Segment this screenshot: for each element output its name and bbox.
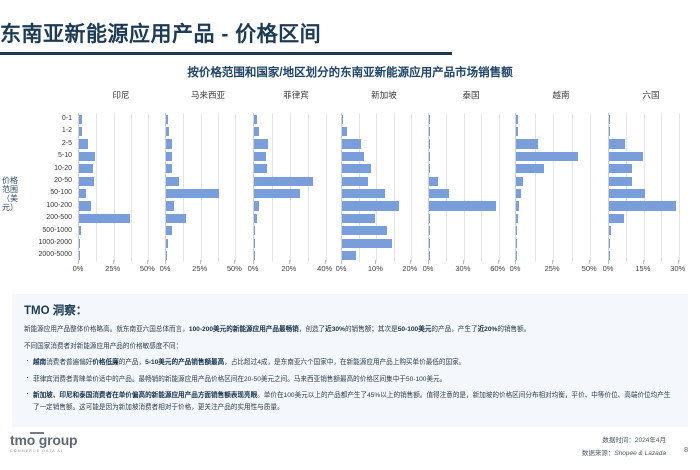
panel-plot-area [341, 113, 427, 262]
chart-panel-马来西亚: 马来西亚0%25%50% [165, 88, 251, 288]
bar-row [609, 113, 694, 125]
bar [342, 239, 392, 248]
bar-row [342, 125, 427, 137]
bar [609, 139, 625, 148]
bar-row [254, 187, 339, 199]
bar [609, 177, 632, 186]
x-tick-label: 30% [455, 264, 470, 273]
bar-row [254, 225, 339, 237]
bar [342, 226, 387, 235]
data-date-label: 数据时间： [602, 437, 635, 444]
bar [166, 177, 179, 186]
x-tick-label: 25% [192, 264, 207, 273]
category-label: 20-50 [20, 175, 75, 187]
bar-row [79, 187, 164, 199]
bar [254, 127, 259, 136]
bar-row [254, 150, 339, 162]
y-axis-title: 价格范围（美元） [2, 176, 18, 212]
data-source-label: 数据来源： [582, 450, 615, 457]
bar [429, 177, 438, 186]
chart-title: 按价格范围和国家/地区划分的东南亚新能源应用产品市场销售额 [0, 64, 700, 80]
bar-row [609, 237, 694, 249]
bar [79, 139, 88, 148]
bar-row [342, 212, 427, 224]
bar-row [166, 237, 251, 249]
panel-plot-area [78, 113, 164, 262]
bar-row [429, 175, 514, 187]
bar [429, 127, 430, 136]
bar-row [516, 163, 607, 175]
bar [166, 251, 167, 260]
bar [342, 139, 361, 148]
category-label: 1-2 [20, 125, 75, 137]
x-axis-ticks: 0%10%20% [341, 264, 427, 278]
x-tick-label: 0% [336, 264, 347, 273]
bar-row [609, 138, 694, 150]
bar-row [79, 125, 164, 137]
x-axis-ticks: 0%25%50% [515, 264, 607, 278]
bar-row [516, 200, 607, 212]
bar [79, 201, 91, 210]
bar [79, 251, 80, 260]
bar-row [429, 125, 514, 137]
insight-panel: TMO 洞察： 新能源应用产品整体价格略高。就东南亚六国总体而言，100-200… [12, 294, 688, 427]
insight-body: 新能源应用产品整体价格略高。就东南亚六国总体而言，100-200美元的新能源应用… [24, 324, 676, 413]
bar [429, 152, 430, 161]
bar [166, 214, 186, 223]
chart-panel-越南: 越南0%25%50% [515, 88, 607, 288]
bar-row [166, 125, 251, 137]
bar [516, 239, 517, 248]
bar [254, 214, 257, 223]
bar-row [609, 225, 694, 237]
x-tick-label: 0% [603, 264, 614, 273]
bar-row [166, 150, 251, 162]
bar [516, 251, 517, 260]
x-tick-label: 0% [510, 264, 521, 273]
bar-row [609, 200, 694, 212]
panel-header-label: 泰国 [428, 88, 514, 102]
insight-paragraph: 新能源应用产品整体价格略高。就东南亚六国总体而言，100-200美元的新能源应用… [24, 324, 676, 336]
bar [254, 164, 267, 173]
bar [254, 177, 313, 186]
panel-header-label: 印尼 [78, 88, 164, 102]
bar [429, 226, 430, 235]
bar-row [429, 187, 514, 199]
bar-row [609, 212, 694, 224]
bar-row [166, 200, 251, 212]
bar-row [254, 113, 339, 125]
bar [166, 127, 169, 136]
bar [429, 115, 430, 124]
bar-row [79, 200, 164, 212]
panel-header-label: 新加坡 [341, 88, 427, 102]
bar [342, 201, 399, 210]
bar-row [516, 175, 607, 187]
bar [79, 164, 93, 173]
bar [609, 226, 611, 235]
data-source-meta: 数据来源：Shopee & Lazada [582, 447, 666, 457]
bar [166, 189, 219, 198]
tmo-group-logo: tmo group COMMERCE DATA AI [10, 432, 77, 453]
bar-row [609, 125, 694, 137]
bar [79, 177, 94, 186]
bar-row [79, 237, 164, 249]
bar-row [609, 187, 694, 199]
bar-row [254, 200, 339, 212]
category-label: 100-200 [20, 200, 75, 212]
bar [254, 251, 255, 260]
x-axis-ticks: 0%15%30% [608, 264, 694, 278]
bar-row [516, 187, 607, 199]
bar [429, 251, 430, 260]
bar [609, 152, 643, 161]
bar-row [166, 163, 251, 175]
x-tick-label: 25% [105, 264, 120, 273]
bar-row [166, 187, 251, 199]
bar-row [166, 225, 251, 237]
bar [609, 115, 610, 124]
bar [342, 115, 343, 124]
bar-row [254, 163, 339, 175]
bar [166, 164, 172, 173]
x-tick-label: 40% [317, 264, 332, 273]
bar-row [79, 225, 164, 237]
chart-container: 按价格范围和国家/地区划分的东南亚新能源应用产品市场销售额 价格范围（美元） 0… [0, 60, 700, 292]
x-tick-label: 25% [545, 264, 560, 273]
bar-row [429, 225, 514, 237]
bar [609, 127, 610, 136]
logo-wordmark: tmo group [10, 432, 77, 448]
panel-plot-area [608, 113, 694, 262]
x-axis-ticks: 0%25%50% [165, 264, 251, 278]
bar [342, 164, 371, 173]
bar [516, 201, 519, 210]
chart-panel-菲律宾: 菲律宾0%20%40% [253, 88, 339, 288]
x-axis-ticks: 0%25%50% [78, 264, 164, 278]
bar [79, 189, 86, 198]
bar [254, 115, 257, 124]
chart-panel-六国: 六国0%15%30% [608, 88, 694, 288]
category-label: 2-5 [20, 138, 75, 150]
category-label: 50-100 [20, 187, 75, 199]
bar [166, 201, 174, 210]
bar-row [342, 113, 427, 125]
category-label: 0-1 [20, 113, 75, 125]
bar [254, 201, 259, 210]
bar-row [342, 249, 427, 261]
data-date-meta: 数据时间：2024年4月 [602, 434, 666, 444]
bar-row [516, 212, 607, 224]
page-number: 8 [684, 447, 688, 454]
bar [254, 239, 255, 248]
x-tick-label: 0% [160, 264, 171, 273]
category-label: 200-500 [20, 212, 75, 224]
chart-panel-新加坡: 新加坡0%10%20% [341, 88, 427, 288]
bar-row [516, 225, 607, 237]
bar [429, 164, 430, 173]
x-tick-label: 20% [281, 264, 296, 273]
bar-row [254, 125, 339, 137]
bar [516, 139, 538, 148]
category-label: 1000-2000 [20, 237, 75, 249]
bar [609, 189, 645, 198]
bar-row [609, 175, 694, 187]
bar-row [166, 249, 251, 261]
bar-row [516, 150, 607, 162]
bar-row [516, 113, 607, 125]
bar [166, 239, 168, 248]
x-tick-label: 50% [140, 264, 155, 273]
bar-row [516, 125, 607, 137]
bar-row [166, 212, 251, 224]
bar [429, 201, 496, 210]
bar-row [429, 113, 514, 125]
bar-row [516, 138, 607, 150]
category-label: 500-1000 [20, 225, 75, 237]
bar [79, 115, 82, 124]
category-label: 10-20 [20, 163, 75, 175]
bar-row [79, 113, 164, 125]
bar [166, 152, 172, 161]
page-title: 东南亚新能源应用产品 - 价格区间 [0, 18, 321, 48]
bar-row [342, 175, 427, 187]
data-source-value: Shopee & Lazada [614, 450, 666, 457]
panel-header-label: 六国 [608, 88, 694, 102]
insight-bullet: 新加坡、印尼和泰国消费者在单价偏高的新能源应用产品方面销售额表现亮眼。单价在10… [24, 390, 676, 413]
bar-row [342, 187, 427, 199]
bar [79, 239, 80, 248]
bar [516, 127, 518, 136]
x-tick-label: 10% [368, 264, 383, 273]
bar-row [342, 150, 427, 162]
x-tick-label: 20% [402, 264, 417, 273]
bar-row [79, 212, 164, 224]
bar-row [254, 138, 339, 150]
logo-overbar-icon [30, 432, 44, 434]
bar [429, 214, 430, 223]
bar [79, 214, 130, 223]
category-label: 5-10 [20, 150, 75, 162]
bar [609, 239, 610, 248]
bar-row [429, 150, 514, 162]
bar-row [166, 138, 251, 150]
x-tick-label: 0% [248, 264, 259, 273]
bar [516, 214, 518, 223]
bar-row [79, 138, 164, 150]
bar-row [429, 163, 514, 175]
x-axis-ticks: 0%30%60% [428, 264, 514, 278]
bar-row [609, 163, 694, 175]
bar-row [342, 225, 427, 237]
bar [429, 239, 430, 248]
bar [166, 226, 172, 235]
bar-row [79, 249, 164, 261]
insight-bullet: 菲律宾消费者青睐单价适中的产品。最畅销的新能源应用产品价格区间在20-50美元之… [24, 374, 676, 386]
bar [166, 139, 172, 148]
bar [342, 127, 347, 136]
bar-row [166, 113, 251, 125]
bar-row [429, 237, 514, 249]
bar [516, 226, 517, 235]
bar-row [516, 249, 607, 261]
bar-row [609, 150, 694, 162]
bar [429, 189, 449, 198]
bar-row [254, 175, 339, 187]
x-tick-label: 60% [490, 264, 505, 273]
bar-row [166, 175, 251, 187]
x-tick-label: 0% [423, 264, 434, 273]
x-axis-ticks: 0%20%40% [253, 264, 339, 278]
x-tick-label: 50% [227, 264, 242, 273]
bar [254, 152, 266, 161]
bar [516, 115, 518, 124]
category-axis-labels: 0-11-22-55-1010-2020-5050-100100-200200-… [20, 113, 75, 262]
bar-row [429, 212, 514, 224]
bar-row [516, 237, 607, 249]
category-label: 2000-5000 [20, 249, 75, 261]
x-tick-label: 30% [670, 264, 685, 273]
chart-panel-印尼: 印尼0%25%50% [78, 88, 164, 288]
bar-row [429, 249, 514, 261]
bar [516, 164, 544, 173]
panel-plot-area [428, 113, 514, 262]
insight-bullet: 越南消费者普遍偏好价格低廉的产品，5-10美元的产品销售额最高，占比超过4成，是… [24, 357, 676, 369]
bar-row [254, 249, 339, 261]
footer: tmo group COMMERCE DATA AI 数据时间：2024年4月 … [0, 430, 700, 470]
bar [254, 189, 300, 198]
bar [79, 226, 81, 235]
bar [429, 139, 430, 148]
chart-panel-泰国: 泰国0%30%60% [428, 88, 514, 288]
bar [342, 251, 356, 260]
bar [254, 226, 255, 235]
bar [342, 189, 385, 198]
bar [516, 189, 521, 198]
bar [166, 115, 168, 124]
bar [609, 251, 610, 260]
bar-row [342, 138, 427, 150]
logo-tagline: COMMERCE DATA AI [10, 449, 77, 453]
bar-row [254, 212, 339, 224]
bar-row [342, 237, 427, 249]
x-tick-label: 15% [635, 264, 650, 273]
insight-paragraph: 不同国家消费者对新能源应用产品的价格敏感度不同： [24, 341, 676, 353]
panel-plot-area [253, 113, 339, 262]
bar [516, 152, 578, 161]
bar [609, 201, 676, 210]
x-tick-label: 0% [73, 264, 84, 273]
bar [609, 164, 632, 173]
data-date-value: 2024年4月 [635, 437, 666, 444]
bar [609, 214, 624, 223]
panel-plot-area [515, 113, 607, 262]
bar-row [609, 249, 694, 261]
panel-header-label: 马来西亚 [165, 88, 251, 102]
insight-title: TMO 洞察： [24, 302, 676, 318]
x-tick-label: 50% [582, 264, 597, 273]
bar [79, 152, 95, 161]
title-underline-rule [0, 52, 452, 55]
bar-row [79, 150, 164, 162]
bar [342, 214, 375, 223]
panel-header-label: 越南 [515, 88, 607, 102]
bar-row [342, 163, 427, 175]
bar [516, 177, 523, 186]
bar [342, 152, 364, 161]
bar-row [79, 175, 164, 187]
bar-row [254, 237, 339, 249]
bar [254, 139, 268, 148]
bar-row [429, 200, 514, 212]
bar [79, 127, 82, 136]
bar-row [342, 200, 427, 212]
bar-row [79, 163, 164, 175]
bar-row [429, 138, 514, 150]
logo-wordmark-text: tmo group [10, 432, 77, 448]
bar [342, 177, 368, 186]
panel-header-label: 菲律宾 [253, 88, 339, 102]
panel-plot-area [165, 113, 251, 262]
